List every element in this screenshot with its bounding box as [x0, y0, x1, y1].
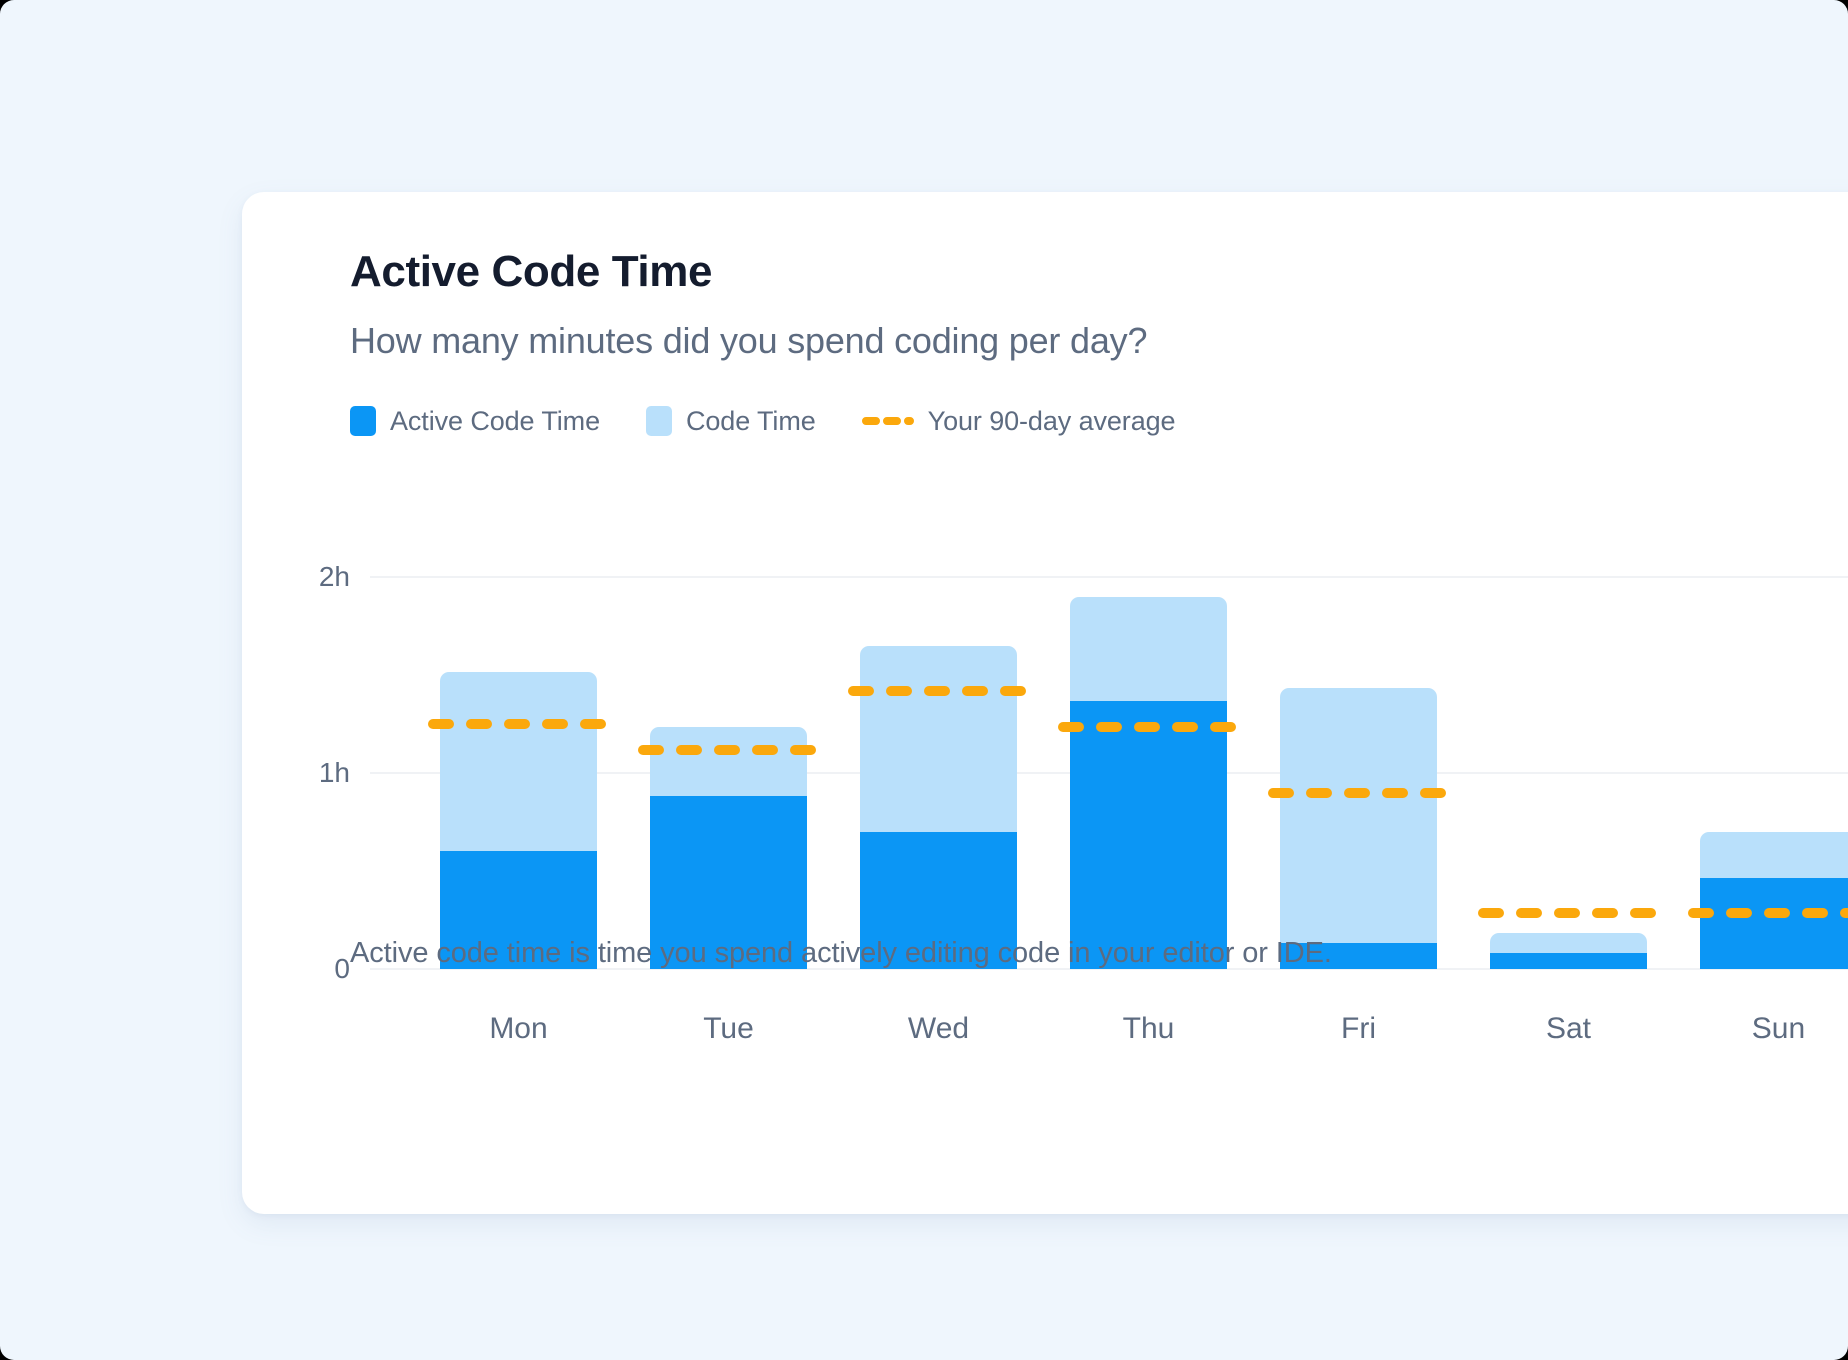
- square-swatch-icon: [646, 406, 672, 436]
- bar-total-sat[interactable]: [1490, 933, 1647, 969]
- average-line-sun: [1688, 908, 1848, 918]
- average-line-fri: [1268, 788, 1449, 798]
- gridline: [370, 772, 1848, 774]
- average-line-thu: [1058, 722, 1239, 732]
- legend-item-active-code-time[interactable]: Active Code Time: [350, 404, 600, 438]
- x-axis-tick-label-sun: Sun: [1689, 1012, 1848, 1046]
- x-axis-tick-label-tue: Tue: [639, 1012, 819, 1046]
- y-axis-tick-label: 2h: [280, 561, 350, 593]
- legend-item-code-time[interactable]: Code Time: [646, 404, 816, 438]
- average-line-wed: [848, 686, 1029, 696]
- bar-total-thu[interactable]: [1070, 597, 1227, 969]
- x-axis-tick-label-fri: Fri: [1269, 1012, 1449, 1046]
- bar-active-sun[interactable]: [1700, 878, 1848, 969]
- gridline: [370, 576, 1848, 578]
- x-axis-tick-label-sat: Sat: [1479, 1012, 1659, 1046]
- dashed-line-icon: [862, 406, 914, 436]
- average-line-tue: [638, 745, 819, 755]
- card-title: Active Code Time: [350, 247, 712, 297]
- y-axis-tick-label: 1h: [280, 757, 350, 789]
- active-code-time-card: Active Code Time How many minutes did yo…: [242, 192, 1848, 1214]
- chart-footnote: Active code time is time you spend activ…: [350, 937, 1332, 970]
- x-axis-tick-label-thu: Thu: [1059, 1012, 1239, 1046]
- legend-label: Code Time: [686, 406, 816, 437]
- average-line-sat: [1478, 908, 1659, 918]
- y-axis-tick-label: 0: [280, 953, 350, 985]
- chart-legend: Active Code Time Code Time Your 90-day a…: [350, 404, 1175, 438]
- legend-item-90-day-average[interactable]: Your 90-day average: [862, 404, 1176, 438]
- bar-total-tue[interactable]: [650, 727, 807, 969]
- bar-total-fri[interactable]: [1280, 688, 1437, 969]
- square-swatch-icon: [350, 406, 376, 436]
- bar-total-sun[interactable]: [1700, 832, 1848, 969]
- x-axis-tick-label-wed: Wed: [849, 1012, 1029, 1046]
- average-line-mon: [428, 719, 609, 729]
- legend-label: Active Code Time: [390, 406, 600, 437]
- legend-label: Your 90-day average: [928, 406, 1176, 437]
- page-root: Active Code Time How many minutes did yo…: [0, 0, 1848, 1360]
- bar-total-mon[interactable]: [440, 672, 597, 969]
- x-axis-tick-label-mon: Mon: [429, 1012, 609, 1046]
- bar-active-thu[interactable]: [1070, 701, 1227, 969]
- bar-total-wed[interactable]: [860, 646, 1017, 969]
- bar-active-sat[interactable]: [1490, 953, 1647, 969]
- card-subtitle: How many minutes did you spend coding pe…: [350, 320, 1147, 362]
